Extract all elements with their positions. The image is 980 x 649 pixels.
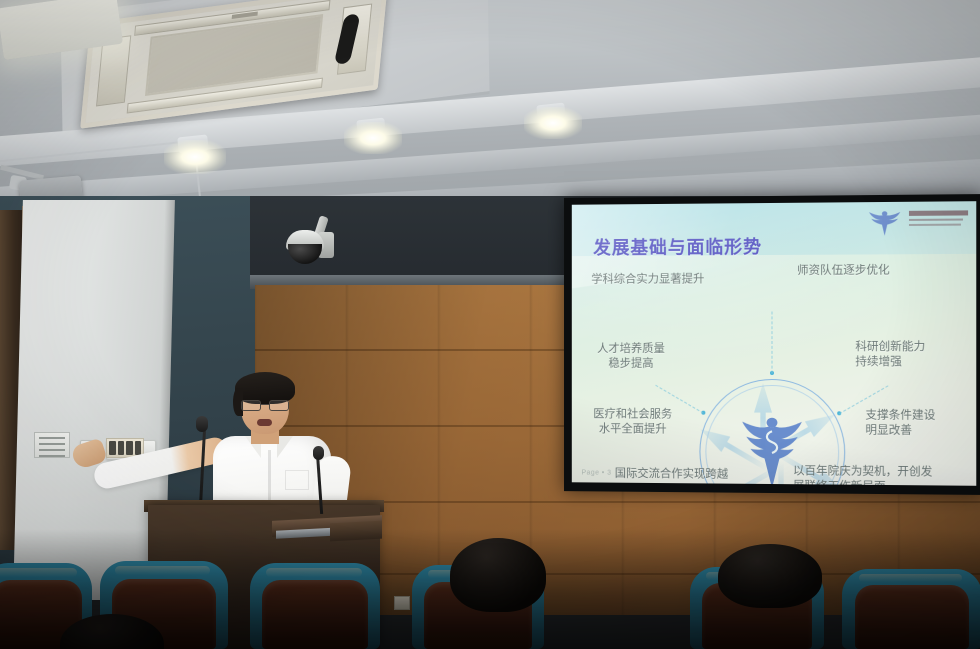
slide-body: 学科综合实力显著提升 师资队伍逐步优化 人才培养质量 稳步提高 科研创新能力 持… (572, 254, 976, 486)
slide-item-mid-left: 人才培养质量 稳步提高 (597, 341, 665, 371)
auditorium-chair (250, 563, 380, 649)
ceiling (0, 0, 980, 215)
presenter-mouth (257, 419, 272, 426)
microphone-icon (313, 446, 324, 460)
security-camera-icon (286, 226, 332, 266)
audience-member-head (450, 538, 546, 612)
slide-item-bottom-left: 医疗和社会服务 水平全面提升 (593, 406, 672, 436)
microphone-icon (196, 416, 208, 432)
audience-member-head (718, 544, 822, 608)
projected-slide: 发展基础与面临形势 (572, 201, 976, 486)
shirt-collar (277, 436, 293, 458)
slide-item-bottom-right: 支撑条件建设 明显改善 (865, 407, 935, 438)
photo-scene: 发展基础与面临形势 (0, 0, 980, 649)
auditorium-chair (842, 569, 980, 649)
downlight-glow (344, 122, 402, 154)
institution-logo-text (909, 210, 968, 229)
projection-screen-frame: 发展基础与面临形势 (564, 194, 980, 495)
slide-page-marker: Page • 3 (582, 470, 612, 477)
glasses-icon (241, 400, 289, 411)
slide-item-footer-right: 以百年院庆为契机，开创发 展联络工作新局面 (793, 463, 934, 486)
downlight-glow (524, 107, 582, 139)
camera-dome-icon (288, 244, 322, 264)
downlight-glow (164, 140, 226, 174)
slide-item-top-left: 学科综合实力显著提升 (591, 271, 704, 286)
podium-shelf-front (330, 521, 382, 542)
slide-item-footer-left: 国际交流合作实现跨越 (615, 466, 728, 482)
caduceus-logo-icon (866, 209, 902, 237)
shirt-pocket (285, 470, 309, 490)
wall-notice-label (34, 432, 70, 458)
slide-item-top-right: 师资队伍逐步优化 (797, 262, 890, 277)
audience-seating (0, 560, 980, 649)
diagram-connector (771, 311, 772, 373)
slide-item-mid-right: 科研创新能力 持续增强 (855, 339, 925, 369)
